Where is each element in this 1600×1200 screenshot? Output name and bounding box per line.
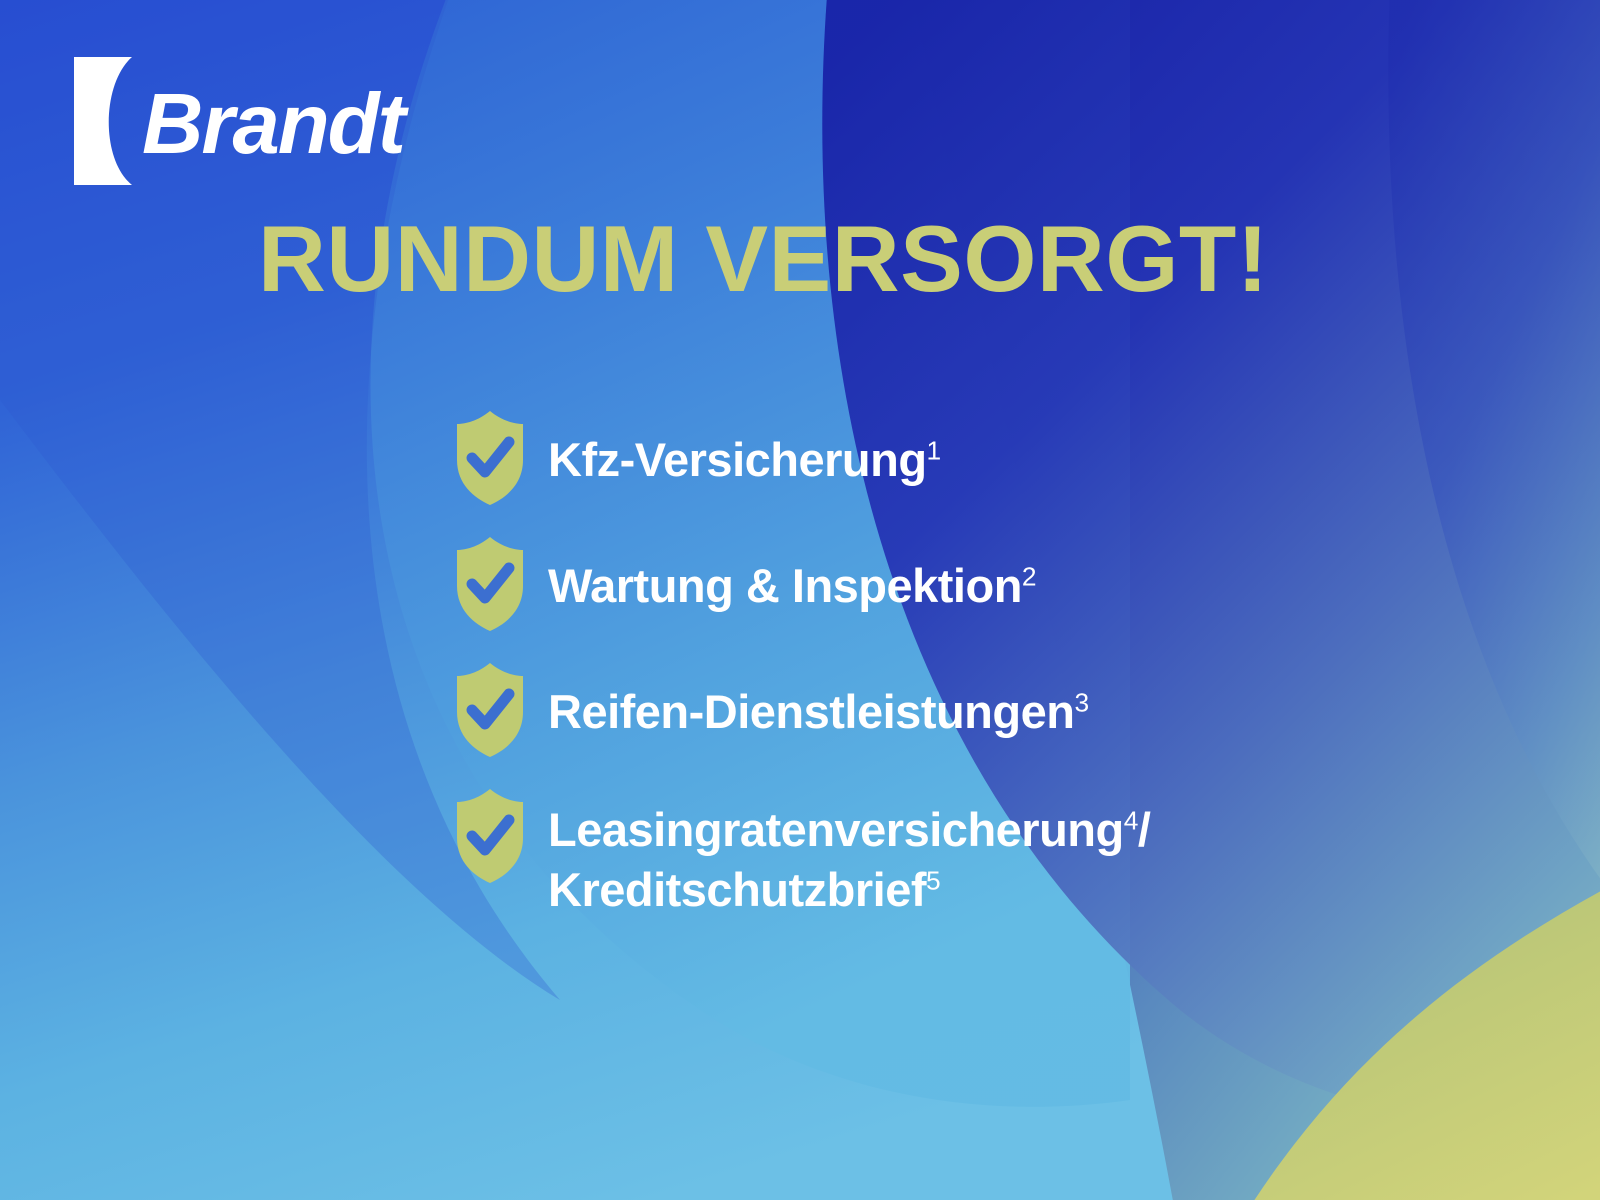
feature-label: Reifen-Dienstleistungen3	[548, 660, 1089, 742]
shield-check-icon	[452, 408, 528, 508]
poster-canvas: Brandt RUNDUM VERSORGT! Kfz-Versicherung…	[0, 0, 1600, 1200]
footnote-marker: 1	[927, 435, 941, 465]
list-item: Reifen-Dienstleistungen3	[452, 660, 1452, 760]
brand-name: Brandt	[142, 82, 404, 167]
list-item: Leasingratenversicherung4/ Kreditschutzb…	[452, 786, 1452, 920]
footnote-marker: 2	[1022, 561, 1036, 591]
list-item: Kfz-Versicherung1	[452, 408, 1452, 508]
shield-check-icon	[452, 534, 528, 634]
feature-label: Wartung & Inspektion2	[548, 534, 1036, 616]
shield-check-icon	[452, 660, 528, 760]
feature-label-text: Kfz-Versicherung	[548, 433, 927, 486]
footnote-marker-2: 5	[926, 866, 940, 896]
feature-separator: /	[1138, 803, 1151, 856]
feature-label-text: Reifen-Dienstleistungen	[548, 685, 1074, 738]
feature-label: Kfz-Versicherung1	[548, 408, 941, 490]
page-title: RUNDUM VERSORGT!	[258, 212, 1269, 306]
footnote-marker: 4	[1124, 805, 1138, 835]
list-item: Wartung & Inspektion2	[452, 534, 1452, 634]
feature-list: Kfz-Versicherung1 Wartung & Inspektion2	[452, 408, 1452, 920]
feature-label-text-2: Kreditschutzbrief	[548, 863, 926, 916]
shield-check-icon	[452, 786, 528, 886]
brandt-bracket-mark-icon	[72, 55, 146, 187]
brand-logo[interactable]: Brandt	[72, 55, 404, 187]
feature-label-text: Leasingratenversicherung	[548, 803, 1124, 856]
feature-label-text: Wartung & Inspektion	[548, 559, 1022, 612]
footnote-marker: 3	[1074, 687, 1088, 717]
feature-label: Leasingratenversicherung4/ Kreditschutzb…	[548, 786, 1150, 920]
